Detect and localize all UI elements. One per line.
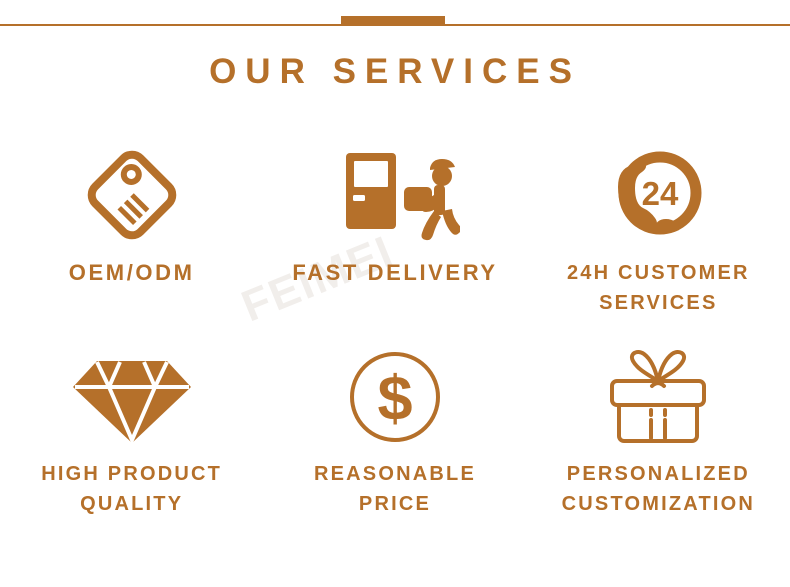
service-item-24h-customer-services[interactable]: 24 24H CUSTOMER SERVICES bbox=[527, 140, 790, 345]
service-label: HIGH PRODUCT QUALITY bbox=[35, 459, 228, 519]
service-label: 24H CUSTOMER SERVICES bbox=[561, 258, 756, 318]
service-label: PERSONALIZED CUSTOMIZATION bbox=[556, 459, 761, 519]
delivery-person-door-icon bbox=[330, 140, 460, 250]
header-accent-bar bbox=[341, 16, 445, 25]
service-label: FAST DELIVERY bbox=[286, 258, 503, 288]
diamond-icon bbox=[73, 345, 191, 449]
price-tag-icon bbox=[78, 140, 186, 250]
service-label: REASONABLE PRICE bbox=[308, 459, 482, 519]
page-title: OUR SERVICES bbox=[0, 50, 790, 94]
service-item-fast-delivery[interactable]: FAST DELIVERY bbox=[263, 140, 526, 345]
service-item-oem-odm[interactable]: OEM/ODM bbox=[0, 140, 263, 345]
service-item-personalized-customization[interactable]: PERSONALIZED CUSTOMIZATION bbox=[527, 345, 790, 550]
service-label: OEM/ODM bbox=[63, 258, 201, 288]
dollar-symbol-text: $ bbox=[377, 364, 412, 434]
services-grid: OEM/ODM bbox=[0, 140, 790, 550]
gift-box-icon bbox=[602, 345, 714, 449]
badge-24-text: 24 bbox=[642, 175, 679, 212]
service-item-high-product-quality[interactable]: HIGH PRODUCT QUALITY bbox=[0, 345, 263, 550]
phone-24h-support-icon: 24 bbox=[598, 140, 718, 250]
dollar-circle-icon: $ bbox=[345, 345, 445, 449]
services-banner: OUR SERVICES FEIMEI OEM/O bbox=[0, 0, 790, 587]
service-item-reasonable-price[interactable]: $ REASONABLE PRICE bbox=[263, 345, 526, 550]
